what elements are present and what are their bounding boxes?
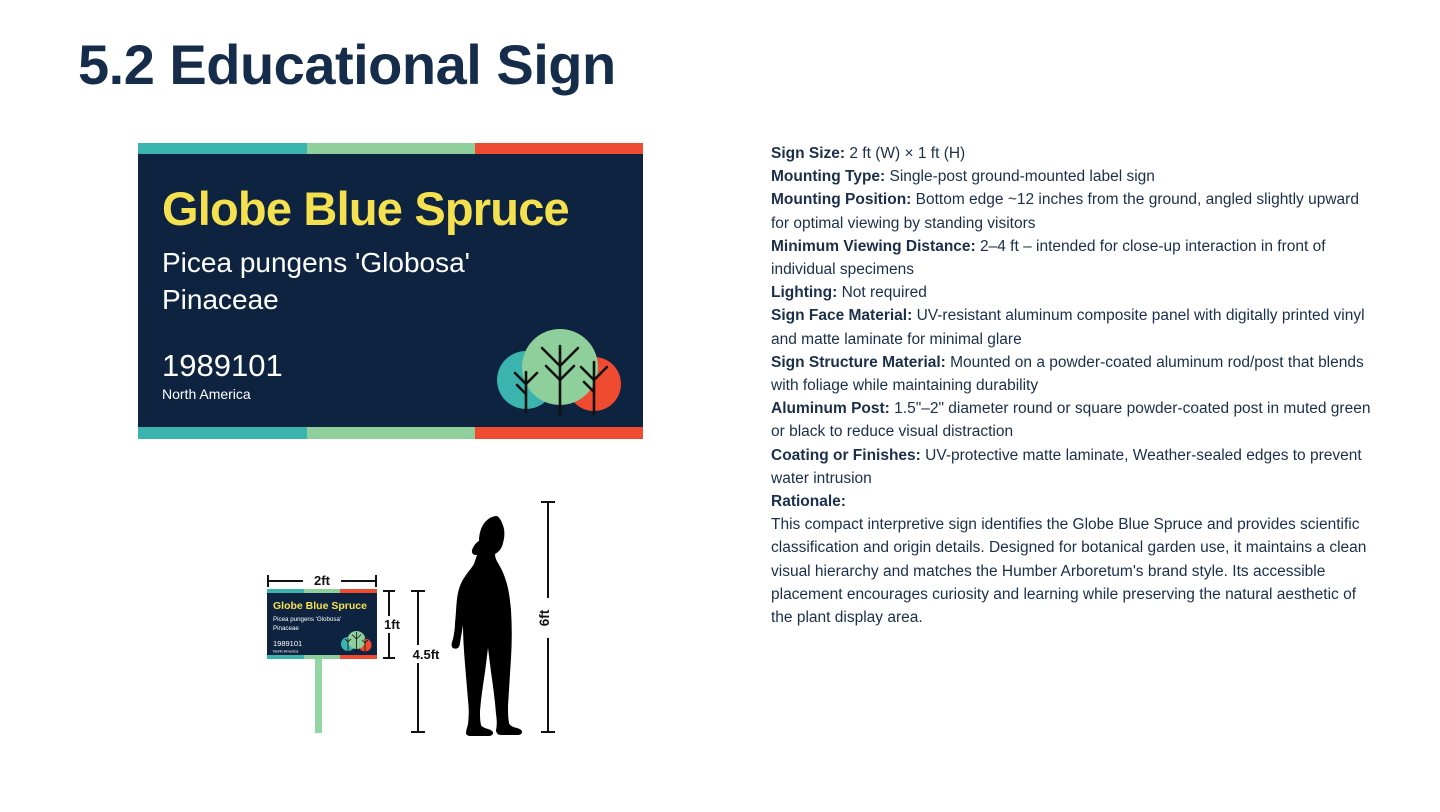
page-title: 5.2 Educational Sign <box>78 34 616 96</box>
bottom-red-bar <box>475 427 643 439</box>
mini-bottom-red-bar <box>340 655 377 659</box>
human-silhouette <box>452 516 522 736</box>
mini-sign-mockup: Globe Blue Spruce Picea pungens 'Globosa… <box>267 589 377 659</box>
sign-common-name: Globe Blue Spruce <box>162 184 643 233</box>
sign-id-number: 1989101 <box>162 349 283 383</box>
spec-item-value: 2 ft (W) × 1 ft (H) <box>845 145 965 162</box>
mini-sign-family-name: Pinaceae <box>273 625 299 632</box>
spec-item: Mounting Position: Bottom edge ~12 inche… <box>771 188 1379 234</box>
spec-item: Aluminum Post: 1.5"–2" diameter round or… <box>771 397 1379 443</box>
bottom-teal-bar <box>138 427 307 439</box>
spec-item: Sign Structure Material: Mounted on a po… <box>771 351 1379 397</box>
spec-item: Mounting Type: Single-post ground-mounte… <box>771 165 1379 188</box>
mini-bottom-green-bar <box>304 655 340 659</box>
person-height-dimension-label: 6ft <box>537 609 552 626</box>
spec-item-label: Mounting Position: <box>771 191 911 208</box>
height-dimension-label: 1ft <box>384 617 401 632</box>
spec-item: Lighting: Not required <box>771 281 1379 304</box>
top-green-bar <box>307 143 475 154</box>
rationale-label: Rationale: <box>771 490 1379 513</box>
rationale-body: This compact interpretive sign identifie… <box>771 513 1379 629</box>
mini-sign-region-label: North America <box>273 649 299 654</box>
spec-item-label: Minimum Viewing Distance: <box>771 238 976 255</box>
spec-item-label: Coating or Finishes: <box>771 447 921 464</box>
top-teal-bar <box>138 143 307 154</box>
spec-item-label: Lighting: <box>771 284 837 301</box>
spec-item-value: Single-post ground-mounted label sign <box>885 168 1155 185</box>
sign-family-name: Pinaceae <box>162 282 643 319</box>
spec-item-label: Aluminum Post: <box>771 400 890 417</box>
mini-top-teal-bar <box>267 589 304 593</box>
spec-item-label: Mounting Type: <box>771 168 885 185</box>
specification-list: Sign Size: 2 ft (W) × 1 ft (H)Mounting T… <box>771 142 1379 490</box>
mini-sign-common-name: Globe Blue Spruce <box>273 600 367 612</box>
mini-top-green-bar <box>304 589 340 593</box>
sign-scientific-name: Picea pungens 'Globosa' <box>162 245 643 282</box>
mini-top-red-bar <box>340 589 377 593</box>
mini-sign-scientific-name: Picea pungens 'Globosa' <box>273 616 341 623</box>
sign-top-color-bars <box>138 143 643 154</box>
sign-identification-block: 1989101 North America <box>162 349 283 403</box>
educational-sign-mockup: Globe Blue Spruce Picea pungens 'Globosa… <box>138 143 643 439</box>
spec-item-label: Sign Face Material: <box>771 307 912 324</box>
slide-canvas: 5.2 Educational Sign Globe Blue Spruce P… <box>0 0 1440 812</box>
spec-item-label: Sign Structure Material: <box>771 354 946 371</box>
spec-item: Sign Face Material: UV-resistant aluminu… <box>771 304 1379 350</box>
specification-panel: Sign Size: 2 ft (W) × 1 ft (H)Mounting T… <box>771 142 1379 629</box>
mount-height-dimension-label: 4.5ft <box>413 647 440 662</box>
spec-item: Coating or Finishes: UV-protective matte… <box>771 444 1379 490</box>
sign-bottom-color-bars <box>138 427 643 439</box>
sign-body: Globe Blue Spruce Picea pungens 'Globosa… <box>138 154 643 427</box>
spec-item: Sign Size: 2 ft (W) × 1 ft (H) <box>771 142 1379 165</box>
three-trees-logo <box>495 324 625 421</box>
scale-diagram: Globe Blue Spruce Picea pungens 'Globosa… <box>255 490 595 745</box>
sign-post <box>315 658 322 733</box>
bottom-green-bar <box>307 427 475 439</box>
mini-sign-id-number: 1989101 <box>273 639 302 648</box>
width-dimension-label: 2ft <box>314 573 331 588</box>
spec-item-label: Sign Size: <box>771 145 845 162</box>
top-red-bar <box>475 143 643 154</box>
spec-item: Minimum Viewing Distance: 2–4 ft – inten… <box>771 235 1379 281</box>
sign-region-label: North America <box>162 386 283 403</box>
spec-item-value: Not required <box>837 284 927 301</box>
mini-bottom-teal-bar <box>267 655 304 659</box>
